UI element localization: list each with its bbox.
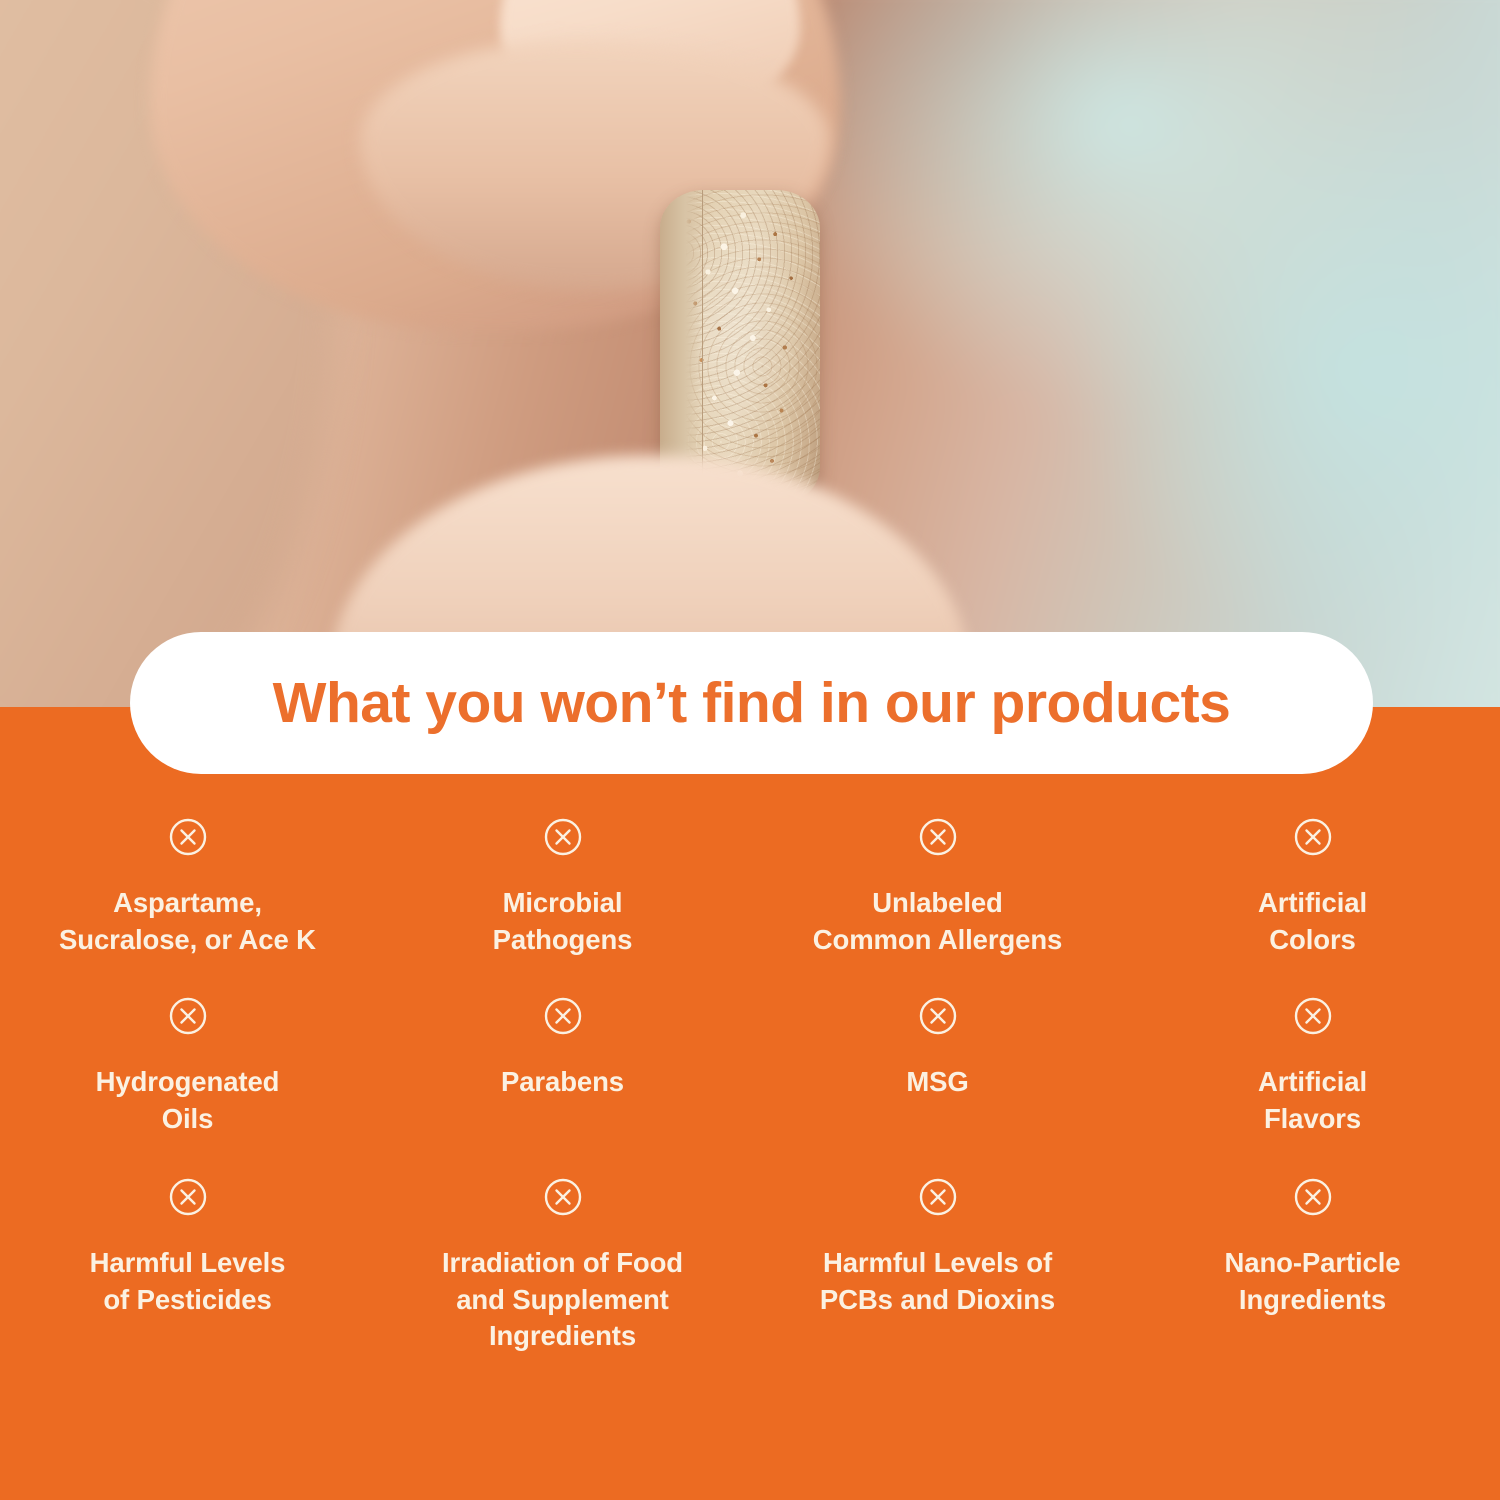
- hero-photo: [0, 0, 1500, 707]
- exclusion-item: Aspartame,Sucralose, or Ace K: [0, 817, 375, 996]
- exclusion-item: MSG: [750, 996, 1125, 1177]
- exclusion-label: ArtificialFlavors: [1258, 1064, 1367, 1137]
- circle-x-icon: [543, 817, 583, 857]
- circle-x-icon: [1293, 996, 1333, 1036]
- exclusion-label: Irradiation of Foodand SupplementIngredi…: [442, 1245, 683, 1355]
- exclusion-item: Irradiation of Foodand SupplementIngredi…: [375, 1177, 750, 1367]
- exclusion-item: UnlabeledCommon Allergens: [750, 817, 1125, 996]
- circle-x-icon: [168, 1177, 208, 1217]
- exclusion-label: Harmful Levelsof Pesticides: [90, 1245, 286, 1318]
- title-text-emphasis: won’t: [540, 671, 686, 735]
- exclusions-grid: Aspartame,Sucralose, or Ace K MicrobialP…: [0, 817, 1500, 1367]
- circle-x-icon: [168, 996, 208, 1036]
- exclusion-item: ArtificialFlavors: [1125, 996, 1500, 1177]
- circle-x-icon: [543, 1177, 583, 1217]
- page-title: What you won’t find in our products: [273, 675, 1231, 732]
- exclusions-row: HydrogenatedOils Parabens MSG Artificial…: [0, 996, 1500, 1177]
- exclusion-label: MSG: [906, 1064, 968, 1101]
- promo-infographic: What you won’t find in our products Aspa…: [0, 0, 1500, 1500]
- exclusion-label: Parabens: [501, 1064, 624, 1101]
- exclusion-label: Nano-ParticleIngredients: [1225, 1245, 1401, 1318]
- circle-x-icon: [543, 996, 583, 1036]
- exclusion-item: Harmful Levelsof Pesticides: [0, 1177, 375, 1367]
- exclusion-label: UnlabeledCommon Allergens: [813, 885, 1063, 958]
- circle-x-icon: [918, 817, 958, 857]
- circle-x-icon: [1293, 1177, 1333, 1217]
- title-text-part2: find in our products: [687, 671, 1231, 735]
- exclusion-item: HydrogenatedOils: [0, 996, 375, 1177]
- exclusion-item: Nano-ParticleIngredients: [1125, 1177, 1500, 1367]
- title-text-part1: What you: [273, 671, 541, 735]
- circle-x-icon: [1293, 817, 1333, 857]
- exclusion-label: HydrogenatedOils: [96, 1064, 280, 1137]
- circle-x-icon: [918, 996, 958, 1036]
- exclusion-label: MicrobialPathogens: [493, 885, 633, 958]
- exclusion-label: Harmful Levels ofPCBs and Dioxins: [820, 1245, 1055, 1318]
- exclusion-label: Aspartame,Sucralose, or Ace K: [59, 885, 316, 958]
- exclusion-label: ArtificialColors: [1258, 885, 1367, 958]
- exclusions-row: Harmful Levelsof Pesticides Irradiation …: [0, 1177, 1500, 1367]
- exclusion-item: MicrobialPathogens: [375, 817, 750, 996]
- circle-x-icon: [168, 817, 208, 857]
- exclusions-row: Aspartame,Sucralose, or Ace K MicrobialP…: [0, 817, 1500, 996]
- exclusions-panel: Aspartame,Sucralose, or Ace K MicrobialP…: [0, 707, 1500, 1500]
- exclusion-item: ArtificialColors: [1125, 817, 1500, 996]
- title-banner: What you won’t find in our products: [130, 632, 1373, 774]
- exclusion-item: Parabens: [375, 996, 750, 1177]
- exclusion-item: Harmful Levels ofPCBs and Dioxins: [750, 1177, 1125, 1367]
- circle-x-icon: [918, 1177, 958, 1217]
